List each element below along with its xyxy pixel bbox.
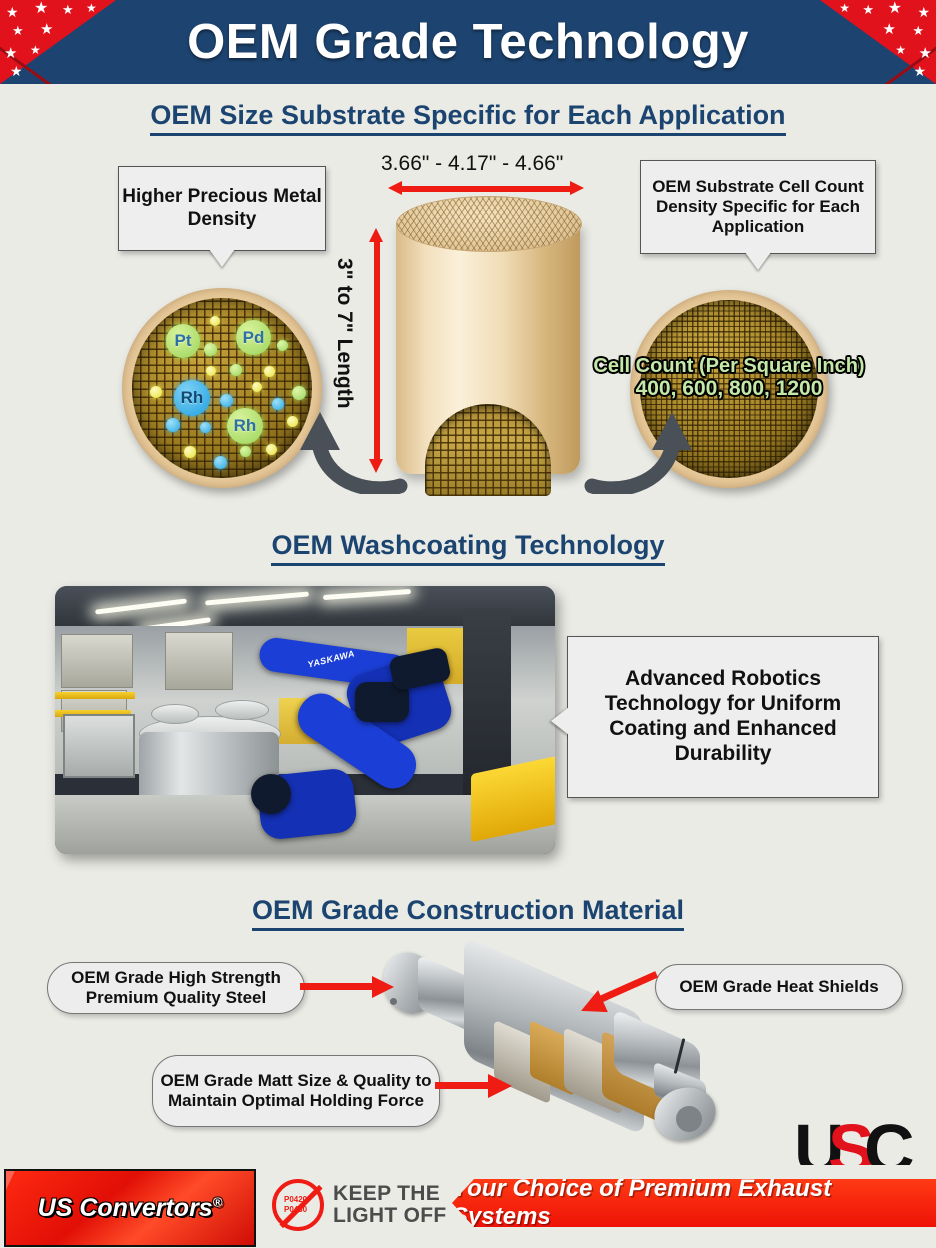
section-heading-substrate: OEM Size Substrate Specific for Each App…	[0, 100, 936, 131]
callout-advanced-robotics: Advanced Robotics Technology for Uniform…	[567, 636, 879, 798]
callout-matt-size: OEM Grade Matt Size & Quality to Maintai…	[152, 1055, 440, 1127]
callout-substrate-cell-count: OEM Substrate Cell Count Density Specifi…	[640, 160, 876, 254]
particle-dot	[264, 366, 275, 377]
section-heading-construction: OEM Grade Construction Material	[0, 895, 936, 926]
callout-high-strength-steel: OEM Grade High Strength Premium Quality …	[47, 962, 305, 1014]
arrow-head	[372, 976, 394, 998]
stars-corner-right: ★ ★ ★ ★ ★ ★ ★ ★ ★	[820, 0, 936, 84]
star-icon: ★	[912, 24, 924, 37]
callout-higher-precious-metal-density-text: Higher Precious Metal Density	[119, 186, 325, 231]
callout-advanced-robotics-text: Advanced Robotics Technology for Uniform…	[568, 667, 878, 766]
section-heading-washcoating-text: OEM Washcoating Technology	[271, 530, 664, 566]
metal-label-pt: Pt	[166, 324, 200, 358]
photo-drum-lid	[151, 704, 199, 724]
section-heading-washcoating: OEM Washcoating Technology	[0, 530, 936, 561]
star-icon: ★	[895, 44, 906, 56]
photo-monitor	[63, 714, 135, 778]
callout-tail	[745, 252, 771, 270]
particle-dot	[214, 456, 227, 469]
particle-dot	[204, 343, 217, 356]
particle-dot	[277, 340, 288, 351]
metal-label-rh-green: Rh	[227, 408, 263, 444]
callout-substrate-cell-count-text: OEM Substrate Cell Count Density Specifi…	[641, 177, 875, 237]
cell-count-label: Cell Count (Per Square Inch)	[579, 355, 879, 377]
photo-yellow-rail	[55, 692, 135, 699]
arrow-to-matt	[435, 1082, 493, 1089]
page-footer: US Convertors® P0420 P0430 KEEP THE LIGH…	[0, 1165, 936, 1248]
keep-line-2: LIGHT OFF	[333, 1205, 447, 1227]
photo-pallet	[165, 632, 233, 690]
particle-dot	[210, 316, 220, 326]
particle-dot	[220, 394, 233, 407]
width-dimension-label: 3.66" - 4.17" - 4.66"	[381, 152, 563, 176]
registered-mark: ®	[213, 1194, 223, 1209]
particle-dot	[150, 386, 162, 398]
particle-dot	[272, 398, 284, 410]
callout-heat-shields-text: OEM Grade Heat Shields	[679, 977, 878, 997]
callout-tail	[551, 707, 569, 735]
cell-count-overlay: Cell Count (Per Square Inch) 400, 600, 8…	[579, 355, 879, 401]
star-icon: ★	[917, 5, 930, 19]
star-icon: ★	[888, 1, 902, 17]
no-check-engine-light-icon: P0420 P0430	[272, 1179, 324, 1231]
keep-the-light-off-block: P0420 P0430 KEEP THE LIGHT OFF	[272, 1179, 447, 1231]
tagline-text: Your Choice of Premium Exhaust Systems	[452, 1175, 936, 1231]
outlet-bore	[676, 1106, 702, 1132]
us-convertors-brand-text: US Convertors	[38, 1194, 213, 1222]
flange-bolt	[390, 998, 397, 1005]
keep-line-1: KEEP THE	[333, 1183, 447, 1205]
particle-dot	[200, 422, 211, 433]
particle-dot	[252, 382, 262, 392]
particle-dot	[240, 446, 251, 457]
precious-metal-magnifier: Pt Pd Rh Rh	[122, 288, 322, 488]
length-dimension-label: 3" to 7" Length	[332, 258, 356, 409]
section-heading-construction-text: OEM Grade Construction Material	[252, 895, 684, 931]
callout-higher-precious-metal-density: Higher Precious Metal Density	[118, 166, 326, 251]
page-title: OEM Grade Technology	[0, 0, 936, 84]
star-icon: ★	[913, 64, 926, 78]
star-icon: ★	[883, 22, 896, 37]
photo-drum-lid	[215, 700, 269, 720]
cylinder-honeycomb-top	[396, 196, 582, 252]
metal-label-pd: Pd	[236, 320, 271, 355]
section-heading-substrate-text: OEM Size Substrate Specific for Each App…	[150, 100, 785, 136]
particle-dot	[266, 444, 277, 455]
us-convertors-badge: US Convertors®	[4, 1169, 256, 1247]
us-convertors-brand: US Convertors®	[38, 1194, 223, 1223]
star-icon: ★	[919, 46, 932, 61]
star-icon: ★	[839, 2, 850, 14]
callout-matt-size-text: OEM Grade Matt Size & Quality to Maintai…	[153, 1071, 439, 1112]
star-icon: ★	[862, 3, 874, 16]
page-header: ★ ★ ★ ★ ★ ★ ★ ★ ★ OEM Grade Technology ★…	[0, 0, 936, 84]
photo-robot-hub	[251, 774, 291, 814]
metal-label-rh-blue: Rh	[174, 380, 210, 416]
particle-dot	[230, 364, 242, 376]
arrow-head	[488, 1074, 512, 1098]
particle-dot	[206, 366, 216, 376]
tagline-banner: Your Choice of Premium Exhaust Systems	[452, 1179, 936, 1227]
keep-light-off-text: KEEP THE LIGHT OFF	[333, 1183, 447, 1227]
arrow-to-steel	[300, 983, 378, 990]
callout-heat-shields: OEM Grade Heat Shields	[655, 964, 903, 1010]
infographic-page: ★ ★ ★ ★ ★ ★ ★ ★ ★ OEM Grade Technology ★…	[0, 0, 936, 1248]
curved-arrow-right	[584, 398, 696, 494]
width-dimension-arrow	[388, 182, 584, 194]
callout-tail	[209, 249, 235, 267]
callout-high-strength-steel-text: OEM Grade High Strength Premium Quality …	[48, 968, 304, 1009]
substrate-cylinder	[396, 196, 580, 496]
curved-arrow-left	[296, 398, 408, 494]
particle-dot	[166, 418, 180, 432]
honeycomb-grid: Pt Pd Rh Rh	[132, 298, 312, 478]
particle-dot	[184, 446, 196, 458]
robotics-factory-photo: YASKAWA	[55, 586, 555, 854]
photo-pallet	[61, 634, 133, 688]
